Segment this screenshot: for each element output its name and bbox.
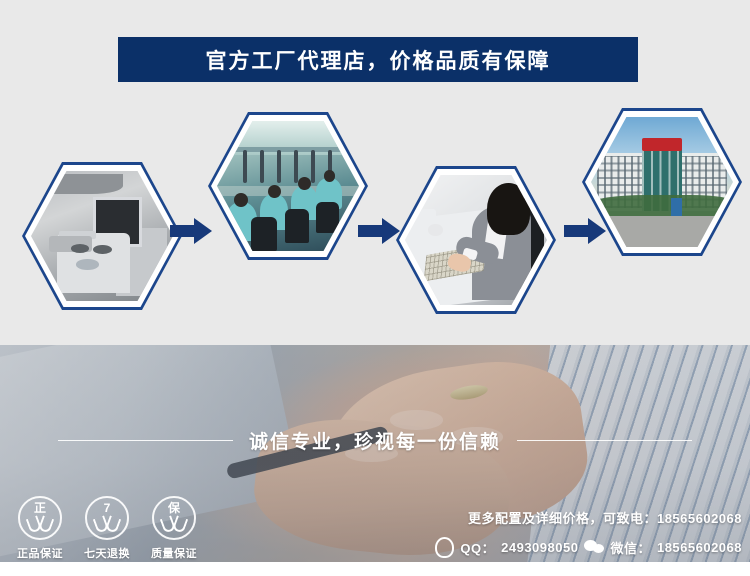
qq-number[interactable]: 2493098050 [501,540,578,555]
process-flow [0,100,750,330]
top-section: 官方工厂代理店，价格品质有保障 [0,0,750,345]
hexagon-frame [208,112,368,260]
factory-assembly-line-photo [217,121,359,251]
person-hair [487,183,530,235]
equipment-dial-left [71,244,89,253]
badge-glyph: 保 [154,502,194,514]
cupped-hands-icon [95,517,119,531]
title-banner: 官方工厂代理店，价格品质有保障 [118,37,638,82]
worker-head [324,170,335,182]
tree-line [591,195,733,216]
hexagon-frame [396,166,556,314]
flow-step-building [582,108,742,256]
wechat-icon [584,540,604,555]
contact-block: 更多配置及详细价格，可致电：18565602068 QQ： 2493098050… [322,508,742,558]
factory-hose [311,150,315,184]
promo-page: 官方工厂代理店，价格品质有保障 [0,0,750,576]
phone-line: 更多配置及详细价格，可致电：18565602068 [322,508,742,527]
factory-hose [277,150,281,184]
wechat-label: 微信： [610,538,651,557]
tagline-rule-left [58,440,233,441]
cupped-hands-icon [162,517,186,531]
factory-hose [243,150,247,184]
qq-penguin-icon [435,537,454,558]
factory-rail [217,147,359,152]
hexagon-photo-clip [217,121,359,251]
badge-glyph: 7 [87,502,127,514]
arrow-shaft [358,225,384,237]
hexagon-inner-frame [25,165,179,307]
equipment-arm [45,174,123,195]
road [591,216,733,247]
im-line: QQ： 2493098050 微信： 18565602068 [322,537,742,558]
flow-step-service [396,166,556,314]
factory-hose [294,150,298,184]
office-building-photo [591,117,733,247]
badge-label: 七天退换 [73,545,141,561]
flow-step-factory [208,112,368,260]
badge-quality[interactable]: 保 质量保证 [140,496,208,561]
tagline-rule-right [517,440,692,441]
hexagon-inner-frame [399,169,553,311]
hexagon-frame [582,108,742,256]
tagline-text: 诚信专业，珍视每一份信赖 [249,427,501,454]
factory-chair [285,209,309,243]
factory-hose [260,150,264,184]
badge-seven-day-return[interactable]: 7 七天退换 [73,496,141,561]
hexagon-photo-clip [31,171,173,301]
badge-authentic[interactable]: 正 正品保证 [6,496,74,561]
rooftop-sign [642,138,682,151]
hexagon-photo-clip [405,175,547,305]
qq-label: QQ： [460,538,495,557]
arrow-right-icon-2 [358,218,400,244]
equipment-disc [76,259,99,269]
badge-circle: 正 [18,496,62,540]
page-title: 官方工厂代理店，价格品质有保障 [206,45,551,75]
tagline-row: 诚信专业，珍视每一份信赖 [0,418,750,462]
footer-white-strip [0,562,750,576]
cupped-hands-icon [28,517,52,531]
arrow-shaft [170,225,196,237]
flow-step-equipment [22,162,182,310]
worker-head [234,193,248,207]
badge-label: 正品保证 [6,545,74,561]
badge-circle: 保 [152,496,196,540]
trust-badges: 正 正品保证 7 七天退换 保 质量保证 [6,496,226,568]
factory-chair [251,217,277,251]
hexagon-frame [22,162,182,310]
worker-head [298,177,311,190]
hexagon-photo-clip [591,117,733,247]
wechat-number[interactable]: 18565602068 [657,540,742,555]
factory-chair [316,202,339,233]
customer-service-photo [405,175,547,305]
badge-glyph: 正 [20,502,60,514]
medical-equipment-photo [31,171,173,301]
worker-head [268,185,281,198]
hexagon-inner-frame [585,111,739,253]
hexagon-inner-frame [211,115,365,257]
badge-label: 质量保证 [140,545,208,561]
arrow-right-icon-1 [170,218,212,244]
badge-circle: 7 [85,496,129,540]
